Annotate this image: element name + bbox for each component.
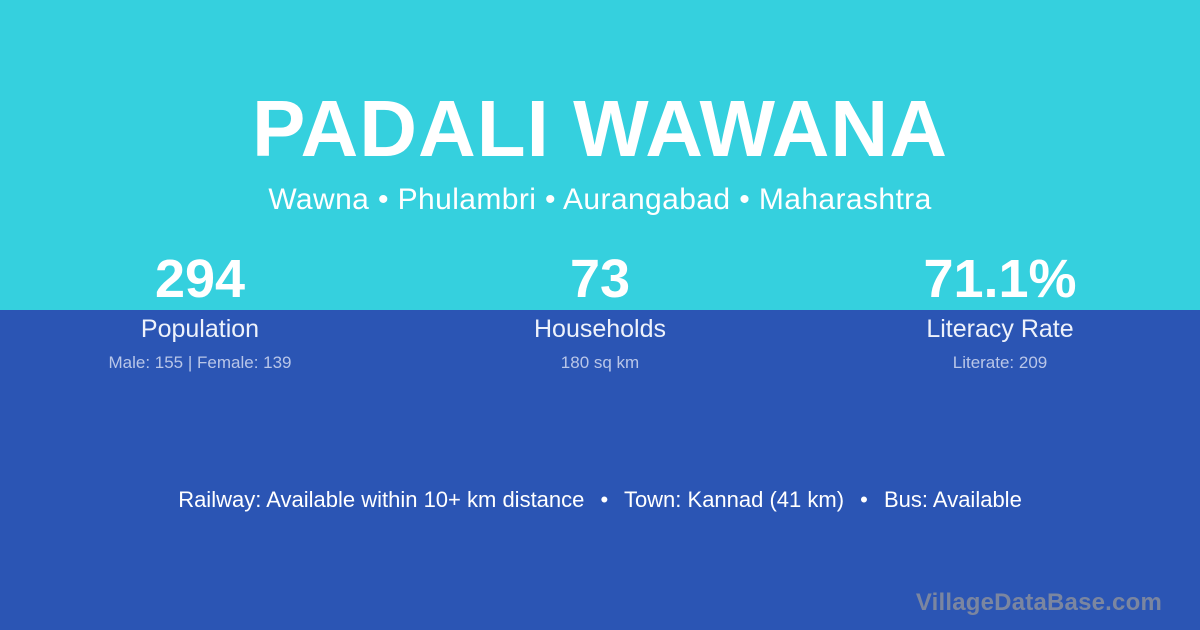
stat-value-literacy-rate: 71.1% — [800, 248, 1200, 310]
stat-value-population: 294 — [0, 248, 400, 310]
stat-detail-households: 180 sq km — [400, 352, 800, 373]
village-info-card: PADALI WAWANA Wawna • Phulambri • Aurang… — [0, 0, 1200, 630]
amenity-separator-2: • — [850, 484, 878, 516]
stat-block-population: 294 Population Male: 155 | Female: 139 — [0, 248, 400, 373]
stat-label-literacy-rate: Literacy Rate — [800, 314, 1200, 344]
stat-block-literacy-rate: 71.1% Literacy Rate Literate: 209 — [800, 248, 1200, 373]
stat-label-population: Population — [0, 314, 400, 344]
amenities-line: Railway: Available within 10+ km distanc… — [0, 484, 1200, 516]
stats-row: 294 Population Male: 155 | Female: 139 7… — [0, 248, 1200, 373]
stat-detail-population: Male: 155 | Female: 139 — [0, 352, 400, 373]
breadcrumb: Wawna • Phulambri • Aurangabad • Maharas… — [0, 182, 1200, 218]
amenity-railway: Railway: Available within 10+ km distanc… — [178, 487, 584, 512]
stat-value-households: 73 — [400, 248, 800, 310]
page-title: PADALI WAWANA — [0, 86, 1200, 172]
stat-detail-literacy-rate: Literate: 209 — [800, 352, 1200, 373]
amenity-bus: Bus: Available — [884, 487, 1022, 512]
stat-label-households: Households — [400, 314, 800, 344]
amenity-separator-1: • — [591, 484, 619, 516]
stat-block-households: 73 Households 180 sq km — [400, 248, 800, 373]
amenity-town: Town: Kannad (41 km) — [624, 487, 844, 512]
site-brand-watermark: VillageDataBase.com — [916, 588, 1162, 618]
